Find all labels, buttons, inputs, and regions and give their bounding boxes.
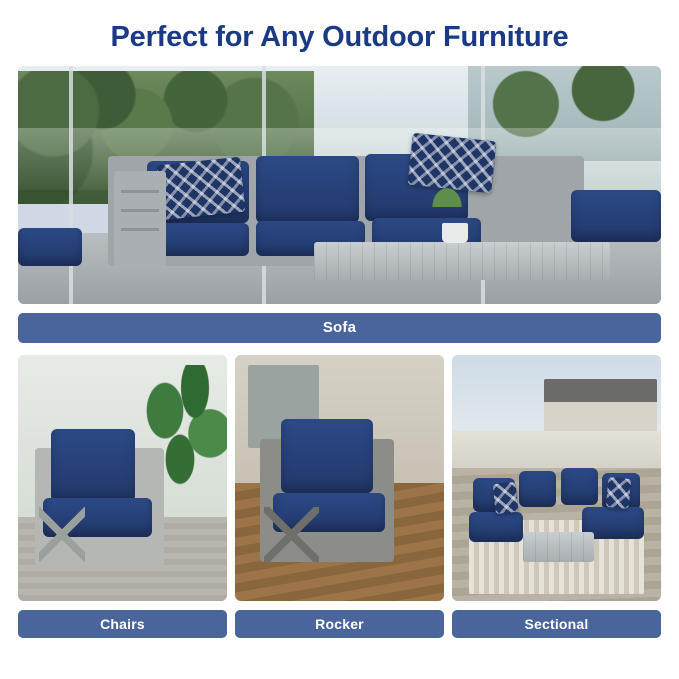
side-chair-cushion [18, 228, 82, 266]
side-chair-cushion [571, 190, 661, 242]
patterned-throw-pillow [605, 477, 630, 508]
railing-post [69, 66, 73, 304]
sectional-back-cushion [561, 468, 599, 505]
chair-x-brace [39, 507, 85, 561]
sofa-back-cushion [256, 156, 359, 223]
caption-sofa: Sofa [18, 313, 661, 343]
hero-photo-sofa [18, 66, 661, 304]
sofa-arm-left [114, 171, 165, 266]
caption-sectional: Sectional [452, 610, 661, 638]
grid-item-chairs: Chairs [18, 355, 227, 638]
sofa-arm-slat [121, 190, 160, 193]
page-title: Perfect for Any Outdoor Furniture [0, 0, 679, 66]
potted-plant [430, 185, 464, 207]
chair-back-cushion [51, 429, 135, 503]
patterned-throw-pillow [492, 482, 518, 514]
photo-chairs [18, 355, 227, 601]
hero-section: Sofa [18, 66, 661, 343]
patio-wall [452, 431, 661, 470]
product-grid: Chairs Rocker [18, 355, 661, 638]
photo-sectional [452, 355, 661, 601]
patterned-throw-pillow [157, 157, 246, 220]
coffee-table [314, 242, 610, 280]
rocker-x-brace [264, 507, 318, 561]
photo-rocker [235, 355, 444, 601]
sectional-seat-cushion [469, 512, 523, 542]
product-feature-page: Perfect for Any Outdoor Furniture [0, 0, 679, 679]
grid-item-sectional: Sectional [452, 355, 661, 638]
plant-pot [442, 223, 468, 243]
caption-chairs: Chairs [18, 610, 227, 638]
coffee-table [523, 532, 594, 562]
sectional-back-cushion [519, 471, 557, 508]
sofa-arm-slat [121, 209, 160, 212]
grid-item-rocker: Rocker [235, 355, 444, 638]
caption-rocker: Rocker [235, 610, 444, 638]
sofa-arm-slat [121, 228, 160, 231]
rocker-back-cushion [281, 419, 373, 493]
